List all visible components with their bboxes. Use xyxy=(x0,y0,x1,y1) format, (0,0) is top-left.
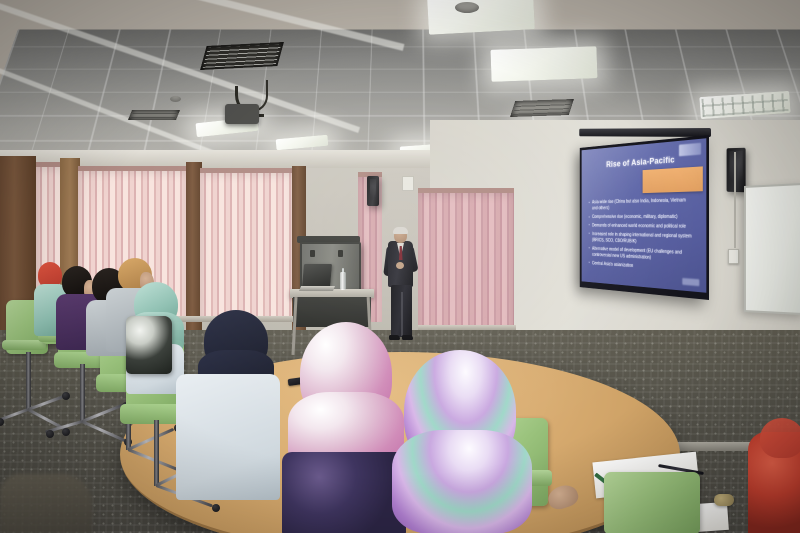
wall-light-switch[interactable] xyxy=(728,249,739,264)
presenter-laptop-screen[interactable] xyxy=(302,264,332,288)
slide-bullet: Comprehensive rise (economic, military, … xyxy=(589,214,694,221)
presentation-slide: Rise of Asia-Pacific Asia-wide rise (Chi… xyxy=(582,138,707,292)
projection-screen: Rise of Asia-Pacific Asia-wide rise (Chi… xyxy=(580,135,709,300)
slide-bullet: Increased role in shaping international … xyxy=(589,231,694,247)
chair-caster xyxy=(62,428,70,436)
presenter-leg-seam xyxy=(401,292,403,336)
chair-backrest xyxy=(604,472,700,533)
chair-caster xyxy=(46,430,54,438)
presenter-laptop-keyboard[interactable] xyxy=(299,286,335,291)
slide-footer-logo-icon xyxy=(682,278,699,286)
attendee-body xyxy=(176,374,280,500)
window-blinds xyxy=(200,168,294,318)
presenter-shoe xyxy=(389,335,400,340)
av-table-panel xyxy=(293,297,371,327)
attendee-hijab xyxy=(760,418,800,458)
smoke-detector xyxy=(170,96,181,102)
chair-caster xyxy=(212,504,220,512)
ceiling-air-vent xyxy=(510,99,574,117)
cabinet-knob xyxy=(338,250,343,257)
ceiling-air-vent xyxy=(200,42,284,70)
slide-bullet: Demands of enhanced world economic and p… xyxy=(589,223,694,231)
handbag xyxy=(126,316,172,374)
presenter-shoe xyxy=(402,335,413,340)
wall-whiteboard xyxy=(744,183,800,315)
water-bottle xyxy=(340,272,346,290)
screen-roller-housing xyxy=(579,128,711,137)
cabinet-knob xyxy=(310,250,315,257)
wall-speaker-right xyxy=(727,148,746,193)
chair-caster xyxy=(62,392,70,400)
chair-post xyxy=(80,364,85,422)
keys xyxy=(714,494,734,506)
wall-speaker-left xyxy=(367,176,379,206)
presenter-hair xyxy=(393,227,408,234)
ceiling-mounted-projector xyxy=(225,104,259,124)
chair-post xyxy=(154,420,159,486)
attendee-body xyxy=(282,452,406,533)
window-blinds xyxy=(418,188,514,328)
slide-image-placeholder xyxy=(643,166,703,193)
ceiling-light-panel xyxy=(490,46,597,82)
foreground-blur xyxy=(0,474,92,533)
ceiling-light-panel xyxy=(427,0,535,35)
chair-post xyxy=(26,352,31,410)
presenter-hand xyxy=(396,262,404,269)
wall-cable xyxy=(734,152,736,248)
slide-bullet: Asia-wide rise (China but also India, In… xyxy=(589,197,694,212)
seminar-room-photo: Rise of Asia-Pacific Asia-wide rise (Chi… xyxy=(0,0,800,533)
attendee-hijab-drape xyxy=(392,430,532,533)
ceiling-air-vent xyxy=(128,110,180,120)
wall-notice xyxy=(402,176,414,191)
slide-bullet-list: Asia-wide rise (China but also India, In… xyxy=(589,197,694,276)
smoke-detector xyxy=(455,2,479,13)
